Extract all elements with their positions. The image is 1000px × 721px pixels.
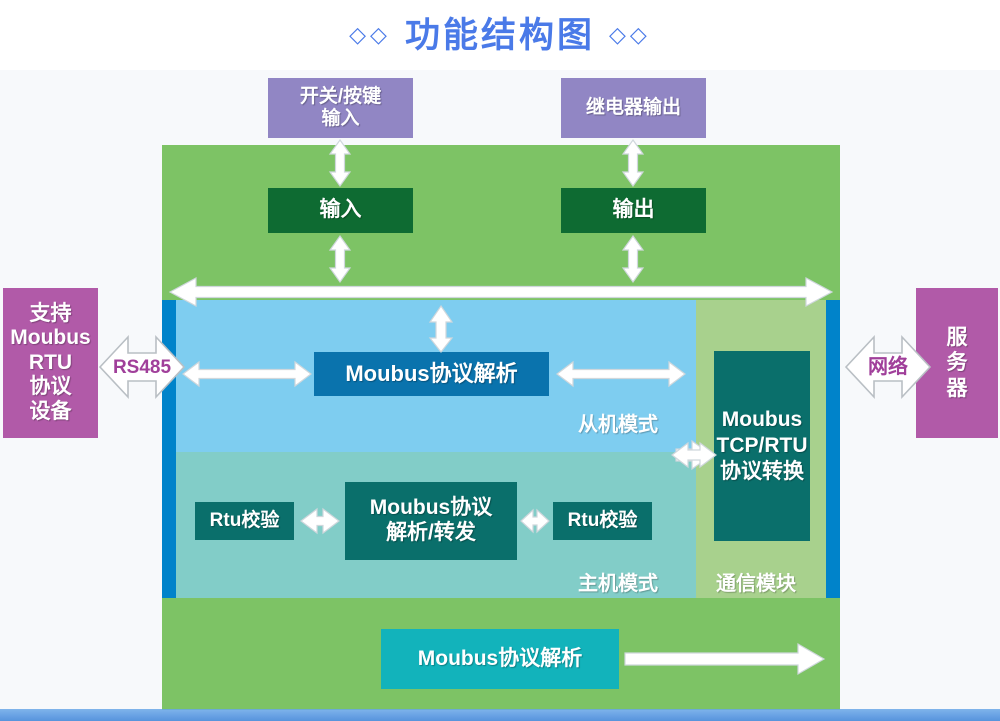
arrow-relay-to-output: [623, 140, 643, 186]
arrow-slave-parse-right: [557, 362, 685, 386]
arrow-bottom-parse-outward: [625, 644, 824, 674]
arrow-internal-bus: [170, 278, 832, 306]
bottom-page-strip: [0, 709, 1000, 721]
arrow-input-to-bus: [330, 236, 350, 282]
page-title-bar: ◇◇ 功能结构图 ◇◇: [0, 0, 1000, 70]
arrow-bus-to-slave-parse: [430, 306, 452, 352]
arrow-rtu-left-to-parse: [301, 509, 339, 533]
arrow-output-to-bus: [623, 236, 643, 282]
arrow-slave-parse-left: [183, 362, 311, 386]
title-decoration-right: ◇◇: [609, 24, 651, 46]
network-connector-label: 网络: [846, 357, 930, 377]
page-title: 功能结构图: [405, 18, 595, 53]
arrow-switch-to-input: [330, 140, 350, 186]
diagram-canvas: 开关/按键 输入 继电器输出 支持 Moubus RTU 协议 设备 服 务 器…: [0, 70, 1000, 721]
rs485-connector-label: RS485: [100, 358, 184, 377]
connector-arrow-layer: [0, 70, 1000, 721]
title-decoration-left: ◇◇: [349, 24, 391, 46]
arrow-parse-to-rtu-right: [521, 510, 549, 532]
